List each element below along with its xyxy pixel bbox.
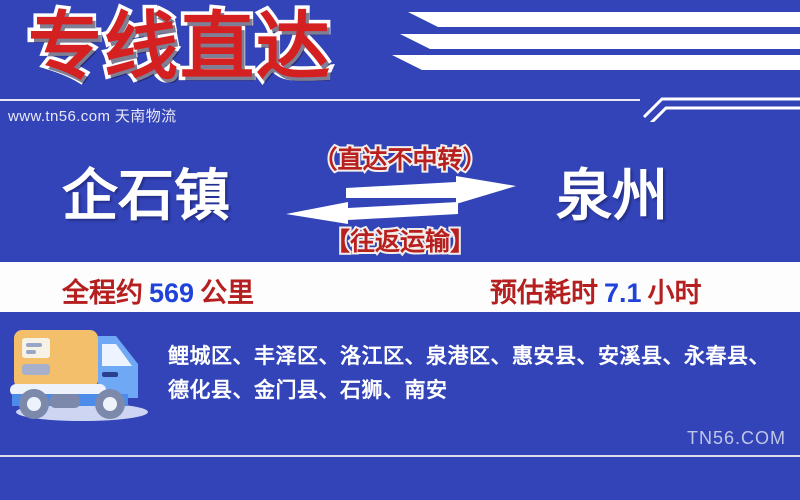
bidirectional-arrows-icon [286,176,516,224]
direct-service-tag: （直达不中转） [270,140,530,176]
coverage-area-list: 鲤城区、丰泽区、洛江区、泉港区、惠安县、安溪县、永春县、德化县、金门县、石狮、南… [168,340,780,408]
duration-unit: 小时 [648,278,702,308]
logistics-route-banner: 专线直达 www.tn56.com 天南物流 企石镇 泉州 （直达不中转） 【往… [0,0,800,500]
header-divider [0,99,640,101]
chevron-down-icon [636,92,800,122]
origin-city: 企石镇 [62,166,230,226]
distance-unit: 公里 [200,278,254,308]
banner-header: 专线直达 www.tn56.com 天南物流 [0,0,800,100]
page-title: 专线直达 [28,2,332,92]
duration-value: 7.1 [598,278,648,308]
round-trip-tag: 【往返运输】 [270,222,530,258]
info-band: 全程约569公里 预估耗时7.1小时 [0,262,800,312]
distance-label: 全程约 [62,278,143,308]
duration-info: 预估耗时7.1小时 [490,271,702,310]
distance-value: 569 [143,278,200,308]
site-url-label: www.tn56.com 天南物流 [8,105,177,126]
banner-footer: 公司地址：物流园区（请咨询我公司客服发详细定位） [0,457,800,500]
delivery-truck-icon [6,314,156,426]
watermark-label: TN56.COM [687,428,786,449]
duration-label: 预估耗时 [490,278,598,308]
destination-city: 泉州 [556,166,668,226]
distance-info: 全程约569公里 [62,271,254,310]
